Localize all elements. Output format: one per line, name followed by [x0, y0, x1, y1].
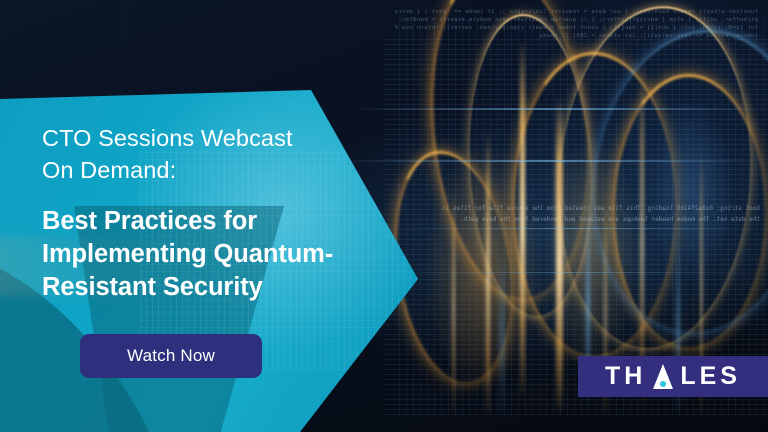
kicker-text: CTO Sessions Webcast On Demand: — [42, 122, 372, 186]
logo-triangle-a-icon — [653, 364, 673, 389]
banner-content: CTO Sessions Webcast On Demand: Best Pra… — [42, 0, 382, 432]
promo-banner: function a(key){ return hash(key); } var… — [0, 0, 768, 432]
scanline — [338, 160, 768, 162]
thales-logo[interactable]: TH LES — [578, 356, 768, 397]
scanline — [353, 108, 768, 110]
scanline — [369, 272, 768, 273]
light-shaft — [452, 190, 455, 420]
watch-now-button[interactable]: Watch Now — [80, 334, 262, 378]
light-shaft — [556, 96, 563, 416]
scanline — [384, 228, 768, 229]
logo-letters-les: LES — [680, 364, 741, 389]
light-shaft — [486, 130, 490, 420]
light-shaft — [520, 40, 525, 400]
blue-beam — [500, 250, 504, 420]
page-title: Best Practices for Implementing Quantum-… — [42, 205, 382, 304]
thales-wordmark: TH LES — [605, 364, 741, 389]
logo-letters-th: TH — [605, 364, 646, 389]
